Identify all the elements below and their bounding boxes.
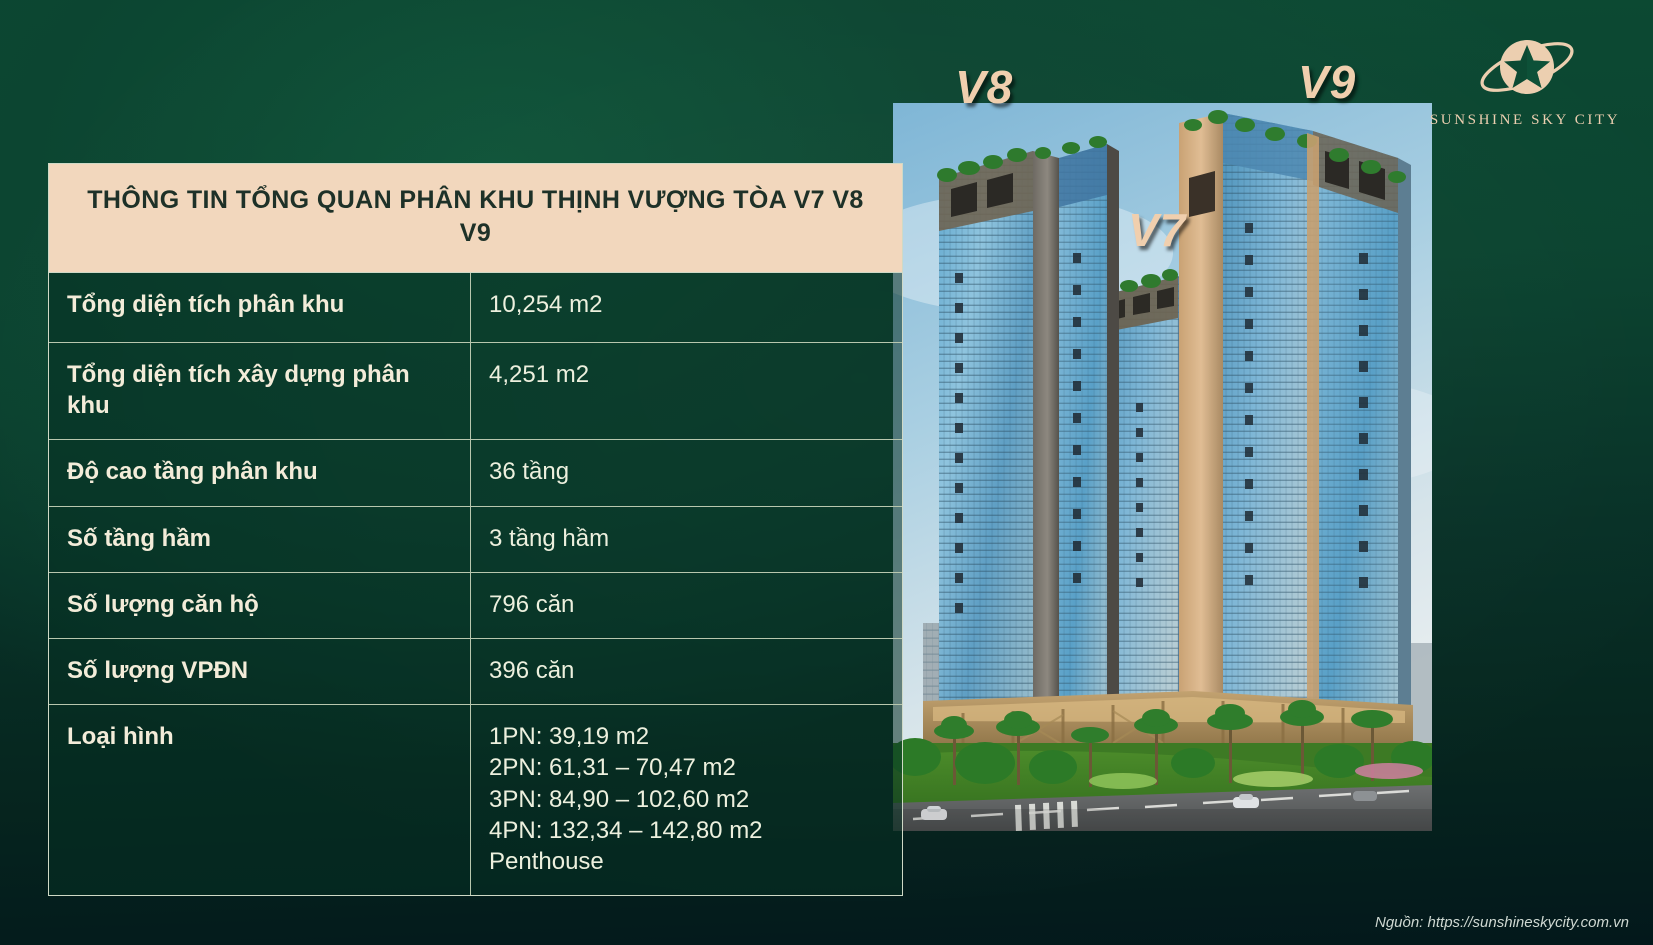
row-label: Tổng diện tích phân khu — [49, 273, 471, 342]
table-title: THÔNG TIN TỔNG QUAN PHÂN KHU THỊNH VƯỢNG… — [49, 164, 902, 273]
source-note: Nguồn: https://sunshineskycity.com.vn — [1375, 914, 1629, 931]
row-label: Loại hình — [49, 705, 471, 895]
logo-wordmark: SUNSHINE SKY CITY — [1412, 112, 1638, 129]
row-label: Độ cao tầng phân khu — [49, 440, 471, 505]
row-value: 3 tầng hầm — [471, 507, 902, 572]
row-value: 796 căn — [471, 573, 902, 638]
apartment-type-line: 2PN: 61,31 – 70,47 m2 — [489, 752, 888, 783]
row-value: 396 căn — [471, 639, 902, 704]
table-row: Số lượng căn hộ 796 căn — [49, 573, 902, 639]
table-row: Độ cao tầng phân khu 36 tầng — [49, 440, 902, 506]
apartment-type-line: 4PN: 132,34 – 142,80 m2 — [489, 815, 888, 846]
apartment-type-line: 3PN: 84,90 – 102,60 m2 — [489, 784, 888, 815]
table-row: Số tầng hầm 3 tầng hầm — [49, 507, 902, 573]
row-value: 10,254 m2 — [471, 273, 902, 342]
project-info-table: THÔNG TIN TỔNG QUAN PHÂN KHU THỊNH VƯỢNG… — [48, 163, 903, 896]
row-value: 4,251 m2 — [471, 343, 902, 439]
row-value: 36 tầng — [471, 440, 902, 505]
tower-label-v8: V8 — [955, 60, 1013, 114]
row-value-lines: 1PN: 39,19 m2 2PN: 61,31 – 70,47 m2 3PN:… — [471, 705, 902, 895]
row-label: Tổng diện tích xây dựng phân khu — [49, 343, 471, 439]
sunshine-sky-city-logo: SUNSHINE SKY CITY — [1412, 34, 1638, 138]
row-label: Số tầng hầm — [49, 507, 471, 572]
row-label: Số lượng căn hộ — [49, 573, 471, 638]
table-row: Tổng diện tích xây dựng phân khu 4,251 m… — [49, 343, 902, 440]
apartment-type-line: Penthouse — [489, 846, 888, 877]
planet-star-icon — [1471, 34, 1579, 108]
table-row: Tổng diện tích phân khu 10,254 m2 — [49, 273, 902, 343]
table-row: Loại hình 1PN: 39,19 m2 2PN: 61,31 – 70,… — [49, 705, 902, 895]
tower-label-v7: V7 — [1128, 203, 1186, 257]
slide-canvas: V8 V7 V9 SUNSHINE SKY CITY THÔNG TIN TỔN… — [0, 0, 1653, 945]
tower-label-v9: V9 — [1298, 55, 1356, 109]
table-row: Số lượng VPĐN 396 căn — [49, 639, 902, 705]
row-label: Số lượng VPĐN — [49, 639, 471, 704]
apartment-type-line: 1PN: 39,19 m2 — [489, 721, 888, 752]
